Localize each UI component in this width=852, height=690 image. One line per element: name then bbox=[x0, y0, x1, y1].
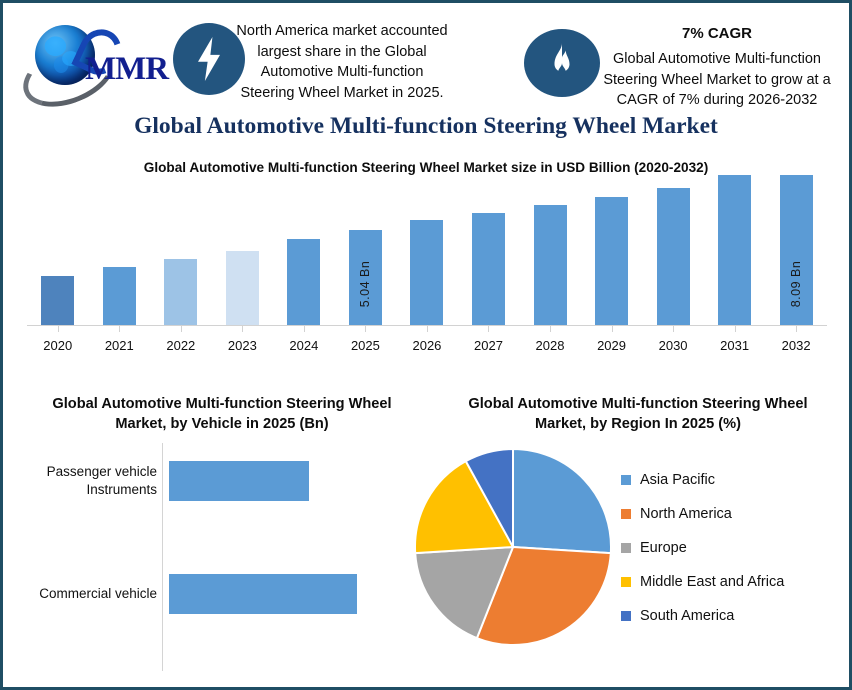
by-vehicle-plot-area: Passenger vehicle Instruments Commercial… bbox=[7, 443, 427, 673]
legend-swatch bbox=[621, 509, 631, 519]
bar-column bbox=[27, 175, 89, 325]
bar bbox=[595, 197, 628, 325]
bar bbox=[534, 205, 567, 325]
legend-label: Middle East and Africa bbox=[640, 574, 784, 590]
pie-graphic bbox=[413, 447, 613, 647]
by-region-pie-chart: Global Automotive Multi-function Steerin… bbox=[427, 385, 849, 685]
legend-swatch bbox=[621, 543, 631, 553]
bar bbox=[226, 251, 259, 325]
axis-tick bbox=[365, 326, 366, 332]
axis-tick bbox=[304, 326, 305, 332]
brand-name: MMR bbox=[85, 51, 168, 88]
bar bbox=[287, 239, 320, 325]
bar-column bbox=[581, 175, 643, 325]
bar-column: 5.04 Bn bbox=[335, 175, 397, 325]
axis-tick bbox=[612, 326, 613, 332]
horizontal-bar bbox=[169, 461, 309, 501]
callout-left-text: North America market accounted largest s… bbox=[235, 21, 449, 103]
list-item: Commercial vehicle bbox=[7, 574, 427, 614]
bar bbox=[718, 175, 751, 325]
x-axis-tick-label: 2025 bbox=[335, 338, 397, 353]
bar bbox=[41, 276, 74, 325]
x-axis-tick-label: 2026 bbox=[396, 338, 458, 353]
legend-swatch bbox=[621, 611, 631, 621]
mmr-logo: MMR bbox=[17, 17, 167, 95]
bar bbox=[164, 259, 197, 325]
x-axis-tick-label: 2023 bbox=[212, 338, 274, 353]
axis-tick bbox=[427, 326, 428, 332]
x-axis-tick-label: 2030 bbox=[642, 338, 704, 353]
axis-tick bbox=[119, 326, 120, 332]
bar-column bbox=[704, 175, 766, 325]
bar-chart-plot-area: 5.04 Bn8.09 Bn 2020202120222023202420252… bbox=[27, 175, 827, 353]
bar: 8.09 Bn bbox=[780, 175, 813, 325]
legend-item: North America bbox=[621, 497, 849, 531]
bar-column bbox=[458, 175, 520, 325]
axis-tick bbox=[181, 326, 182, 332]
x-axis-tick-label: 2031 bbox=[704, 338, 766, 353]
bar-column bbox=[396, 175, 458, 325]
bar-column bbox=[150, 175, 212, 325]
legend-item: South America bbox=[621, 599, 849, 633]
cagr-heading: 7% CAGR bbox=[601, 25, 833, 42]
legend-item: Middle East and Africa bbox=[621, 565, 849, 599]
legend-swatch bbox=[621, 475, 631, 485]
bar-column bbox=[519, 175, 581, 325]
x-axis-tick-label: 2028 bbox=[519, 338, 581, 353]
x-axis-tick-label: 2022 bbox=[150, 338, 212, 353]
bar: 5.04 Bn bbox=[349, 230, 382, 325]
x-axis-labels: 2020202120222023202420252026202720282029… bbox=[27, 338, 827, 353]
x-axis-tick-label: 2024 bbox=[273, 338, 335, 353]
legend-label: South America bbox=[640, 608, 734, 624]
header: MMR North America market accounted large… bbox=[3, 3, 849, 115]
bar bbox=[472, 213, 505, 325]
x-axis-tick-label: 2032 bbox=[765, 338, 827, 353]
pie-slice bbox=[513, 449, 611, 553]
legend-label: Asia Pacific bbox=[640, 472, 715, 488]
bar-category-label: Passenger vehicle Instruments bbox=[7, 463, 165, 498]
bar-value-label: 5.04 Bn bbox=[358, 261, 372, 308]
bar-column: 8.09 Bn bbox=[765, 175, 827, 325]
bar bbox=[103, 267, 136, 325]
legend-label: Europe bbox=[640, 540, 687, 556]
axis-tick bbox=[58, 326, 59, 332]
by-vehicle-bar-chart: Global Automotive Multi-function Steerin… bbox=[7, 385, 427, 685]
legend-label: North America bbox=[640, 506, 732, 522]
axis-tick bbox=[488, 326, 489, 332]
page-title: Global Automotive Multi-function Steerin… bbox=[3, 113, 849, 140]
legend-swatch bbox=[621, 577, 631, 587]
bar-value-label: 8.09 Bn bbox=[789, 261, 803, 308]
bar-column bbox=[212, 175, 274, 325]
x-axis-tick-label: 2029 bbox=[581, 338, 643, 353]
pie-legend: Asia PacificNorth AmericaEuropeMiddle Ea… bbox=[621, 463, 849, 633]
by-region-chart-title: Global Automotive Multi-function Steerin… bbox=[447, 395, 829, 434]
bar-series: 5.04 Bn8.09 Bn bbox=[27, 175, 827, 325]
axis-tick bbox=[735, 326, 736, 332]
infographic-page: MMR North America market accounted large… bbox=[0, 0, 852, 690]
x-axis-tick-label: 2021 bbox=[89, 338, 151, 353]
bar-column bbox=[642, 175, 704, 325]
axis-tick bbox=[673, 326, 674, 332]
callout-right-text: Global Automotive Multi-function Steerin… bbox=[601, 49, 833, 111]
by-vehicle-chart-title: Global Automotive Multi-function Steerin… bbox=[27, 395, 417, 434]
x-axis-tick-label: 2020 bbox=[27, 338, 89, 353]
bar-category-label: Commercial vehicle bbox=[7, 585, 165, 603]
bar bbox=[410, 220, 443, 325]
bar-column bbox=[89, 175, 151, 325]
bar-column bbox=[273, 175, 335, 325]
horizontal-bar bbox=[169, 574, 357, 614]
legend-item: Europe bbox=[621, 531, 849, 565]
axis-tick bbox=[550, 326, 551, 332]
flame-icon bbox=[524, 29, 600, 97]
list-item: Passenger vehicle Instruments bbox=[7, 461, 427, 501]
axis-tick bbox=[796, 326, 797, 332]
x-axis-tick-label: 2027 bbox=[458, 338, 520, 353]
bar bbox=[657, 188, 690, 325]
axis-tick bbox=[242, 326, 243, 332]
legend-item: Asia Pacific bbox=[621, 463, 849, 497]
market-size-bar-chart: Global Automotive Multi-function Steerin… bbox=[3, 153, 849, 375]
